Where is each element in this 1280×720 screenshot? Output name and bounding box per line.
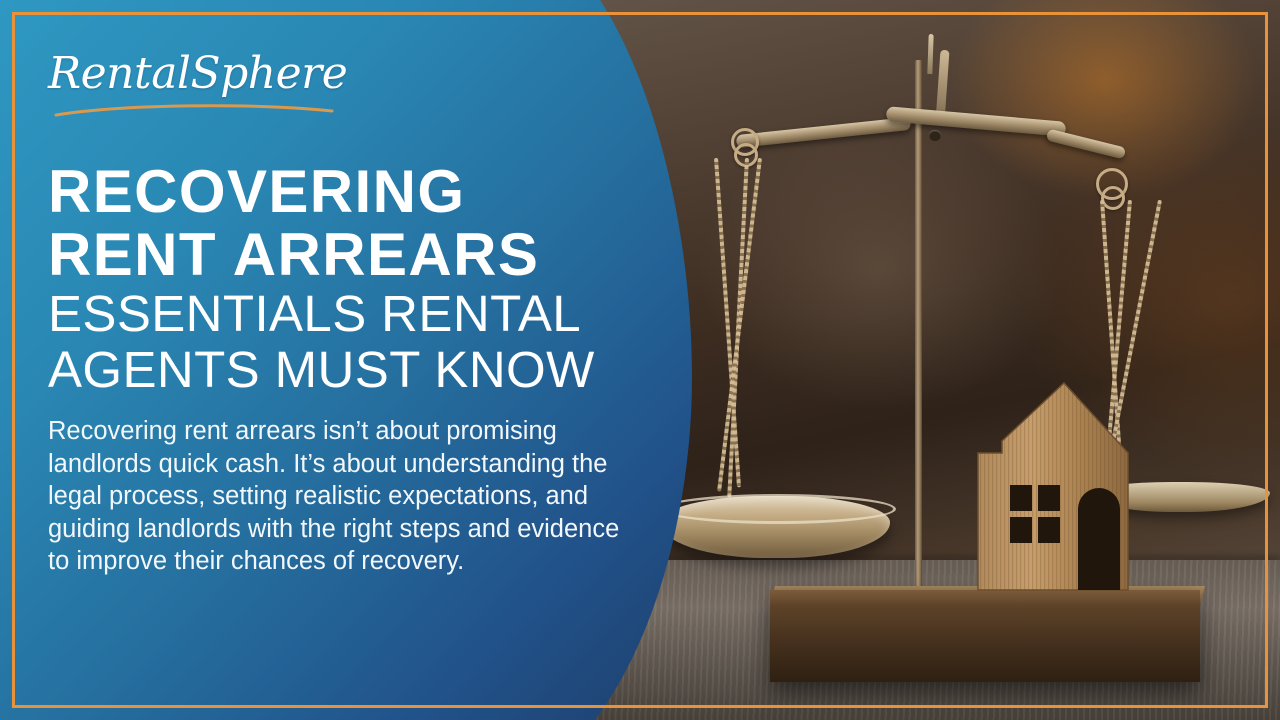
headline-line-3: ESSENTIALS RENTAL [48, 286, 668, 342]
scale-beam-icon [726, 108, 1126, 126]
text-content-block: RentalSphere RECOVERING RENT ARREARS ESS… [48, 0, 648, 720]
scale-post-icon [915, 60, 922, 608]
scale-pivot-hole [929, 130, 941, 141]
body-paragraph: Recovering rent arrears isn’t about prom… [48, 415, 623, 578]
scale-right-ring-lower [1101, 186, 1125, 210]
brand-logo-text: RentalSphere [48, 48, 347, 99]
headline-line-2: RENT ARREARS [48, 223, 668, 286]
wooden-house-icon [960, 375, 1175, 605]
headline-group: RECOVERING RENT ARREARS ESSENTIALS RENTA… [48, 160, 668, 398]
brand-logo-swoosh-icon [54, 102, 334, 118]
headline-line-4: AGENTS MUST KNOW [48, 342, 668, 398]
brand-logo[interactable]: RentalSphere [48, 48, 348, 120]
headline-line-1: RECOVERING [48, 160, 668, 223]
banner-canvas: RentalSphere RECOVERING RENT ARREARS ESS… [0, 0, 1280, 720]
